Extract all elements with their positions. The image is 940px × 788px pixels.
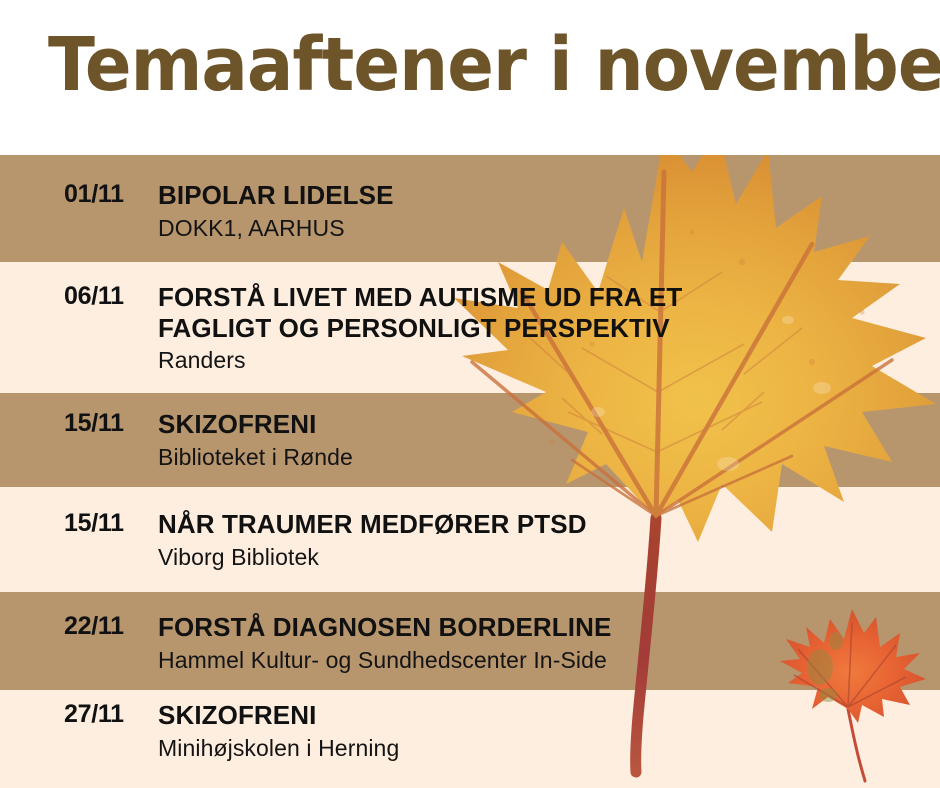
- event-row-6[interactable]: 27/11 SKIZOFRENI Minihøjskolen i Herning: [0, 700, 940, 762]
- event-body: NÅR TRAUMER MEDFØRER PTSD Viborg Bibliot…: [157, 509, 940, 571]
- event-row-3[interactable]: 15/11 SKIZOFRENI Biblioteket i Rønde: [0, 409, 940, 471]
- event-title: FORSTÅ LIVET MED AUTISME UD FRA ET FAGLI…: [158, 282, 940, 343]
- event-venue: Randers: [158, 347, 940, 375]
- event-row-4[interactable]: 15/11 NÅR TRAUMER MEDFØRER PTSD Viborg B…: [0, 509, 940, 571]
- event-date: 15/11: [0, 409, 157, 438]
- event-title: NÅR TRAUMER MEDFØRER PTSD: [158, 509, 940, 540]
- event-date: 15/11: [0, 509, 157, 538]
- page-title: Temaaftener i november: [48, 28, 940, 102]
- event-body: SKIZOFRENI Biblioteket i Rønde: [157, 409, 940, 471]
- event-body: SKIZOFRENI Minihøjskolen i Herning: [157, 700, 940, 762]
- event-body: FORSTÅ DIAGNOSEN BORDERLINE Hammel Kultu…: [157, 612, 940, 674]
- event-date: 01/11: [0, 180, 157, 209]
- poster-canvas: Temaaftener i november 01/11 BIPOLAR LID…: [0, 0, 940, 788]
- event-body: FORSTÅ LIVET MED AUTISME UD FRA ET FAGLI…: [157, 282, 940, 375]
- title-bar: Temaaftener i november: [0, 0, 940, 155]
- event-row-5[interactable]: 22/11 FORSTÅ DIAGNOSEN BORDERLINE Hammel…: [0, 612, 940, 674]
- event-title: BIPOLAR LIDELSE: [158, 180, 940, 211]
- event-title: SKIZOFRENI: [158, 409, 940, 440]
- event-title: FORSTÅ DIAGNOSEN BORDERLINE: [158, 612, 940, 643]
- event-venue: DOKK1, AARHUS: [158, 215, 940, 243]
- event-date: 27/11: [0, 700, 157, 729]
- event-venue: Viborg Bibliotek: [158, 544, 940, 572]
- event-row-1[interactable]: 01/11 BIPOLAR LIDELSE DOKK1, AARHUS: [0, 180, 940, 242]
- event-body: BIPOLAR LIDELSE DOKK1, AARHUS: [157, 180, 940, 242]
- event-date: 06/11: [0, 282, 157, 311]
- event-venue: Minihøjskolen i Herning: [158, 735, 940, 763]
- event-venue: Biblioteket i Rønde: [158, 444, 940, 472]
- event-title: SKIZOFRENI: [158, 700, 940, 731]
- event-row-2[interactable]: 06/11 FORSTÅ LIVET MED AUTISME UD FRA ET…: [0, 282, 940, 375]
- event-venue: Hammel Kultur- og Sundhedscenter In-Side: [158, 647, 940, 675]
- event-date: 22/11: [0, 612, 157, 641]
